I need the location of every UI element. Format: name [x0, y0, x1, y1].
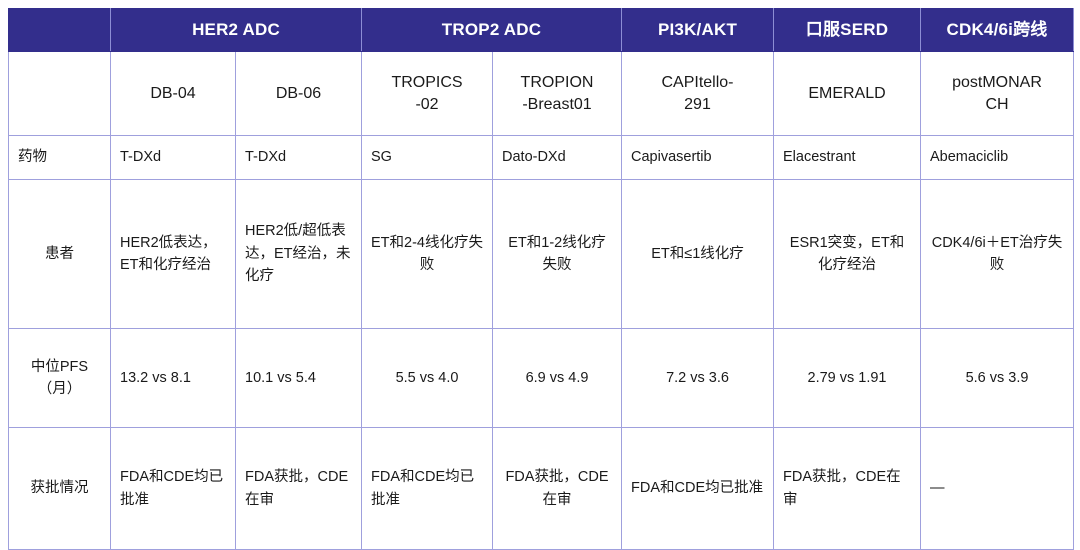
group-header-oral-serd: 口服SERD	[774, 9, 921, 52]
drug-cell-db04: T-DXd	[111, 136, 236, 180]
trial-cell-db06: DB-06	[236, 52, 362, 136]
pfs-cell-db06: 10.1 vs 5.4	[236, 329, 362, 428]
trial-cell-db04: DB-04	[111, 52, 236, 136]
trial-cell-tropion-breast01: TROPION -Breast01	[493, 52, 622, 136]
patients-cell-tropics02: ET和2-4线化疗失败	[362, 180, 493, 329]
approval-cell-tropion-breast01: FDA获批，CDE在审	[493, 428, 622, 550]
group-header-cdk46i: CDK4/6i跨线	[921, 9, 1074, 52]
table-row-approval-status: 获批情况 FDA和CDE均已批准 FDA获批，CDE在审 FDA和CDE均已批准…	[9, 428, 1074, 550]
table-row-drug: 药物 T-DXd T-DXd SG Dato-DXd Capivasertib …	[9, 136, 1074, 180]
row-label-drug: 药物	[9, 136, 111, 180]
pfs-cell-db04: 13.2 vs 8.1	[111, 329, 236, 428]
pfs-cell-capitello291: 7.2 vs 3.6	[622, 329, 774, 428]
table-row-median-pfs: 中位PFS（月） 13.2 vs 8.1 10.1 vs 5.4 5.5 vs …	[9, 329, 1074, 428]
trial-line-1: DB-06	[245, 83, 352, 105]
trial-line-2: CH	[930, 94, 1064, 116]
patients-cell-tropion-breast01: ET和1-2线化疗失败	[493, 180, 622, 329]
pfs-cell-emerald: 2.79 vs 1.91	[774, 329, 921, 428]
row-label-median-pfs: 中位PFS（月）	[9, 329, 111, 428]
patients-cell-postmonarch: CDK4/6i＋ET治疗失败	[921, 180, 1074, 329]
header-corner-cell	[9, 9, 111, 52]
trial-line-1: TROPION	[502, 72, 612, 94]
trial-line-2: -02	[371, 94, 483, 116]
trial-cell-postmonarch: postMONAR CH	[921, 52, 1074, 136]
approval-cell-emerald: FDA获批，CDE在审	[774, 428, 921, 550]
row-label-approval-status: 获批情况	[9, 428, 111, 550]
drug-cell-emerald: Elacestrant	[774, 136, 921, 180]
trial-line-1: postMONAR	[930, 72, 1064, 94]
patients-cell-db04: HER2低表达，ET和化疗经治	[111, 180, 236, 329]
trial-line-1: DB-04	[120, 83, 226, 105]
group-header-her2-adc: HER2 ADC	[111, 9, 362, 52]
trial-line-1: EMERALD	[783, 83, 911, 105]
row-label-patients: 患者	[9, 180, 111, 329]
trial-cell-tropics02: TROPICS -02	[362, 52, 493, 136]
table-group-header-row: HER2 ADC TROP2 ADC PI3K/AKT 口服SERD CDK4/…	[9, 9, 1074, 52]
approval-cell-postmonarch: —	[921, 428, 1074, 550]
trial-line-2: -Breast01	[502, 94, 612, 116]
approval-cell-db06: FDA获批，CDE在审	[236, 428, 362, 550]
approval-cell-tropics02: FDA和CDE均已批准	[362, 428, 493, 550]
trial-cell-capitello291: CAPItello- 291	[622, 52, 774, 136]
pfs-cell-postmonarch: 5.6 vs 3.9	[921, 329, 1074, 428]
drug-cell-tropion-breast01: Dato-DXd	[493, 136, 622, 180]
trial-cell-emerald: EMERALD	[774, 52, 921, 136]
approval-cell-capitello291: FDA和CDE均已批准	[622, 428, 774, 550]
pfs-cell-tropics02: 5.5 vs 4.0	[362, 329, 493, 428]
patients-cell-capitello291: ET和≤1线化疗	[622, 180, 774, 329]
drug-cell-postmonarch: Abemaciclib	[921, 136, 1074, 180]
patients-cell-db06: HER2低/超低表达，ET经治，未化疗	[236, 180, 362, 329]
trial-line-1: CAPItello-	[631, 72, 764, 94]
approval-cell-db04: FDA和CDE均已批准	[111, 428, 236, 550]
pfs-cell-tropion-breast01: 6.9 vs 4.9	[493, 329, 622, 428]
drug-cell-tropics02: SG	[362, 136, 493, 180]
drug-cell-db06: T-DXd	[236, 136, 362, 180]
trial-line-2: 291	[631, 94, 764, 116]
drug-cell-capitello291: Capivasertib	[622, 136, 774, 180]
patients-cell-emerald: ESR1突变，ET和化疗经治	[774, 180, 921, 329]
table-trial-name-row: DB-04 DB-06 TROPICS -02 TROPION -Breast0…	[9, 52, 1074, 136]
group-header-trop2-adc: TROP2 ADC	[362, 9, 622, 52]
therapy-comparison-table: HER2 ADC TROP2 ADC PI3K/AKT 口服SERD CDK4/…	[8, 8, 1074, 550]
trial-line-1: TROPICS	[371, 72, 483, 94]
group-header-pi3k-akt: PI3K/AKT	[622, 9, 774, 52]
table-row-patients: 患者 HER2低表达，ET和化疗经治 HER2低/超低表达，ET经治，未化疗 E…	[9, 180, 1074, 329]
comparison-table-container: HER2 ADC TROP2 ADC PI3K/AKT 口服SERD CDK4/…	[8, 8, 1073, 503]
trial-row-label	[9, 52, 111, 136]
